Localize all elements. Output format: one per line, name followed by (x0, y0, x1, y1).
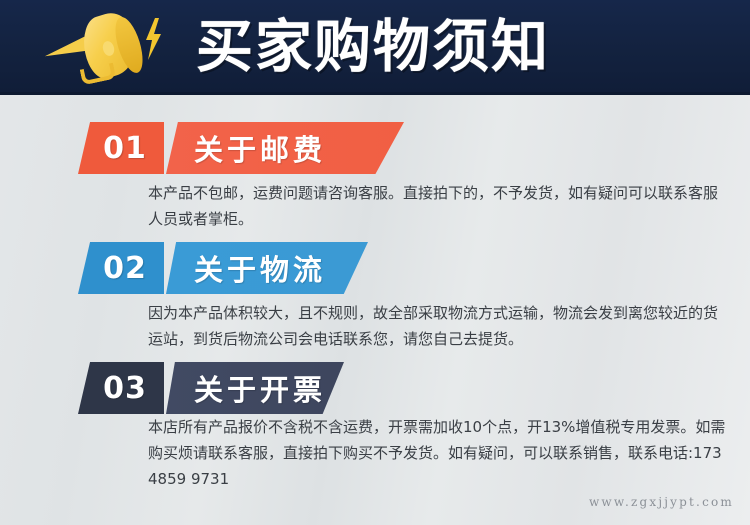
section-logistics: 02 关于物流 因为本产品体积较大，且不规则，故全部采取物流方式运输，物流会发到… (0, 242, 750, 294)
buyer-shopping-notice-page: 买家购物须知 01 关于邮费 本产品不包邮，运费问题请咨询客服。直接拍下的，不予… (0, 0, 750, 525)
section-banner: 02 关于物流 (0, 242, 750, 294)
section-shipping-fee: 01 关于邮费 本产品不包邮，运费问题请咨询客服。直接拍下的，不予发货，如有疑问… (0, 122, 750, 174)
section-number: 03 (95, 371, 147, 406)
section-number-badge: 03 (78, 362, 164, 414)
section-banner: 03 关于开票 (0, 362, 750, 414)
section-body-text: 因为本产品体积较大，且不规则，故全部采取物流方式运输，物流会发到离您较近的货运站… (148, 300, 726, 352)
section-title-banner: 关于物流 (166, 242, 368, 294)
section-title-banner: 关于开票 (166, 362, 344, 414)
section-body-text: 本产品不包邮，运费问题请咨询客服。直接拍下的，不予发货，如有疑问可以联系客服人员… (148, 180, 726, 232)
section-body-text: 本店所有产品报价不含税不含运费，开票需加收10个点，开13%增值税专用发票。如需… (148, 414, 726, 492)
section-title: 关于物流 (166, 247, 326, 289)
section-banner: 01 关于邮费 (0, 122, 750, 174)
section-invoicing: 03 关于开票 本店所有产品报价不含税不含运费，开票需加收10个点，开13%增值… (0, 362, 750, 414)
section-title-banner: 关于邮费 (166, 122, 404, 174)
header-divider (0, 92, 750, 95)
lightning-bolt-icon (144, 18, 162, 60)
megaphone-icon (36, 8, 166, 86)
section-number: 01 (95, 131, 147, 166)
page-header: 买家购物须知 (0, 0, 750, 92)
section-title: 关于开票 (166, 367, 326, 409)
section-number-badge: 01 (78, 122, 164, 174)
watermark-url: www.zgxjjypt.com (589, 495, 734, 509)
section-title: 关于邮费 (166, 127, 326, 169)
megaphone-handle (80, 63, 117, 86)
page-title: 买家购物须知 (196, 8, 550, 86)
section-number-badge: 02 (78, 242, 164, 294)
section-number: 02 (95, 251, 147, 286)
